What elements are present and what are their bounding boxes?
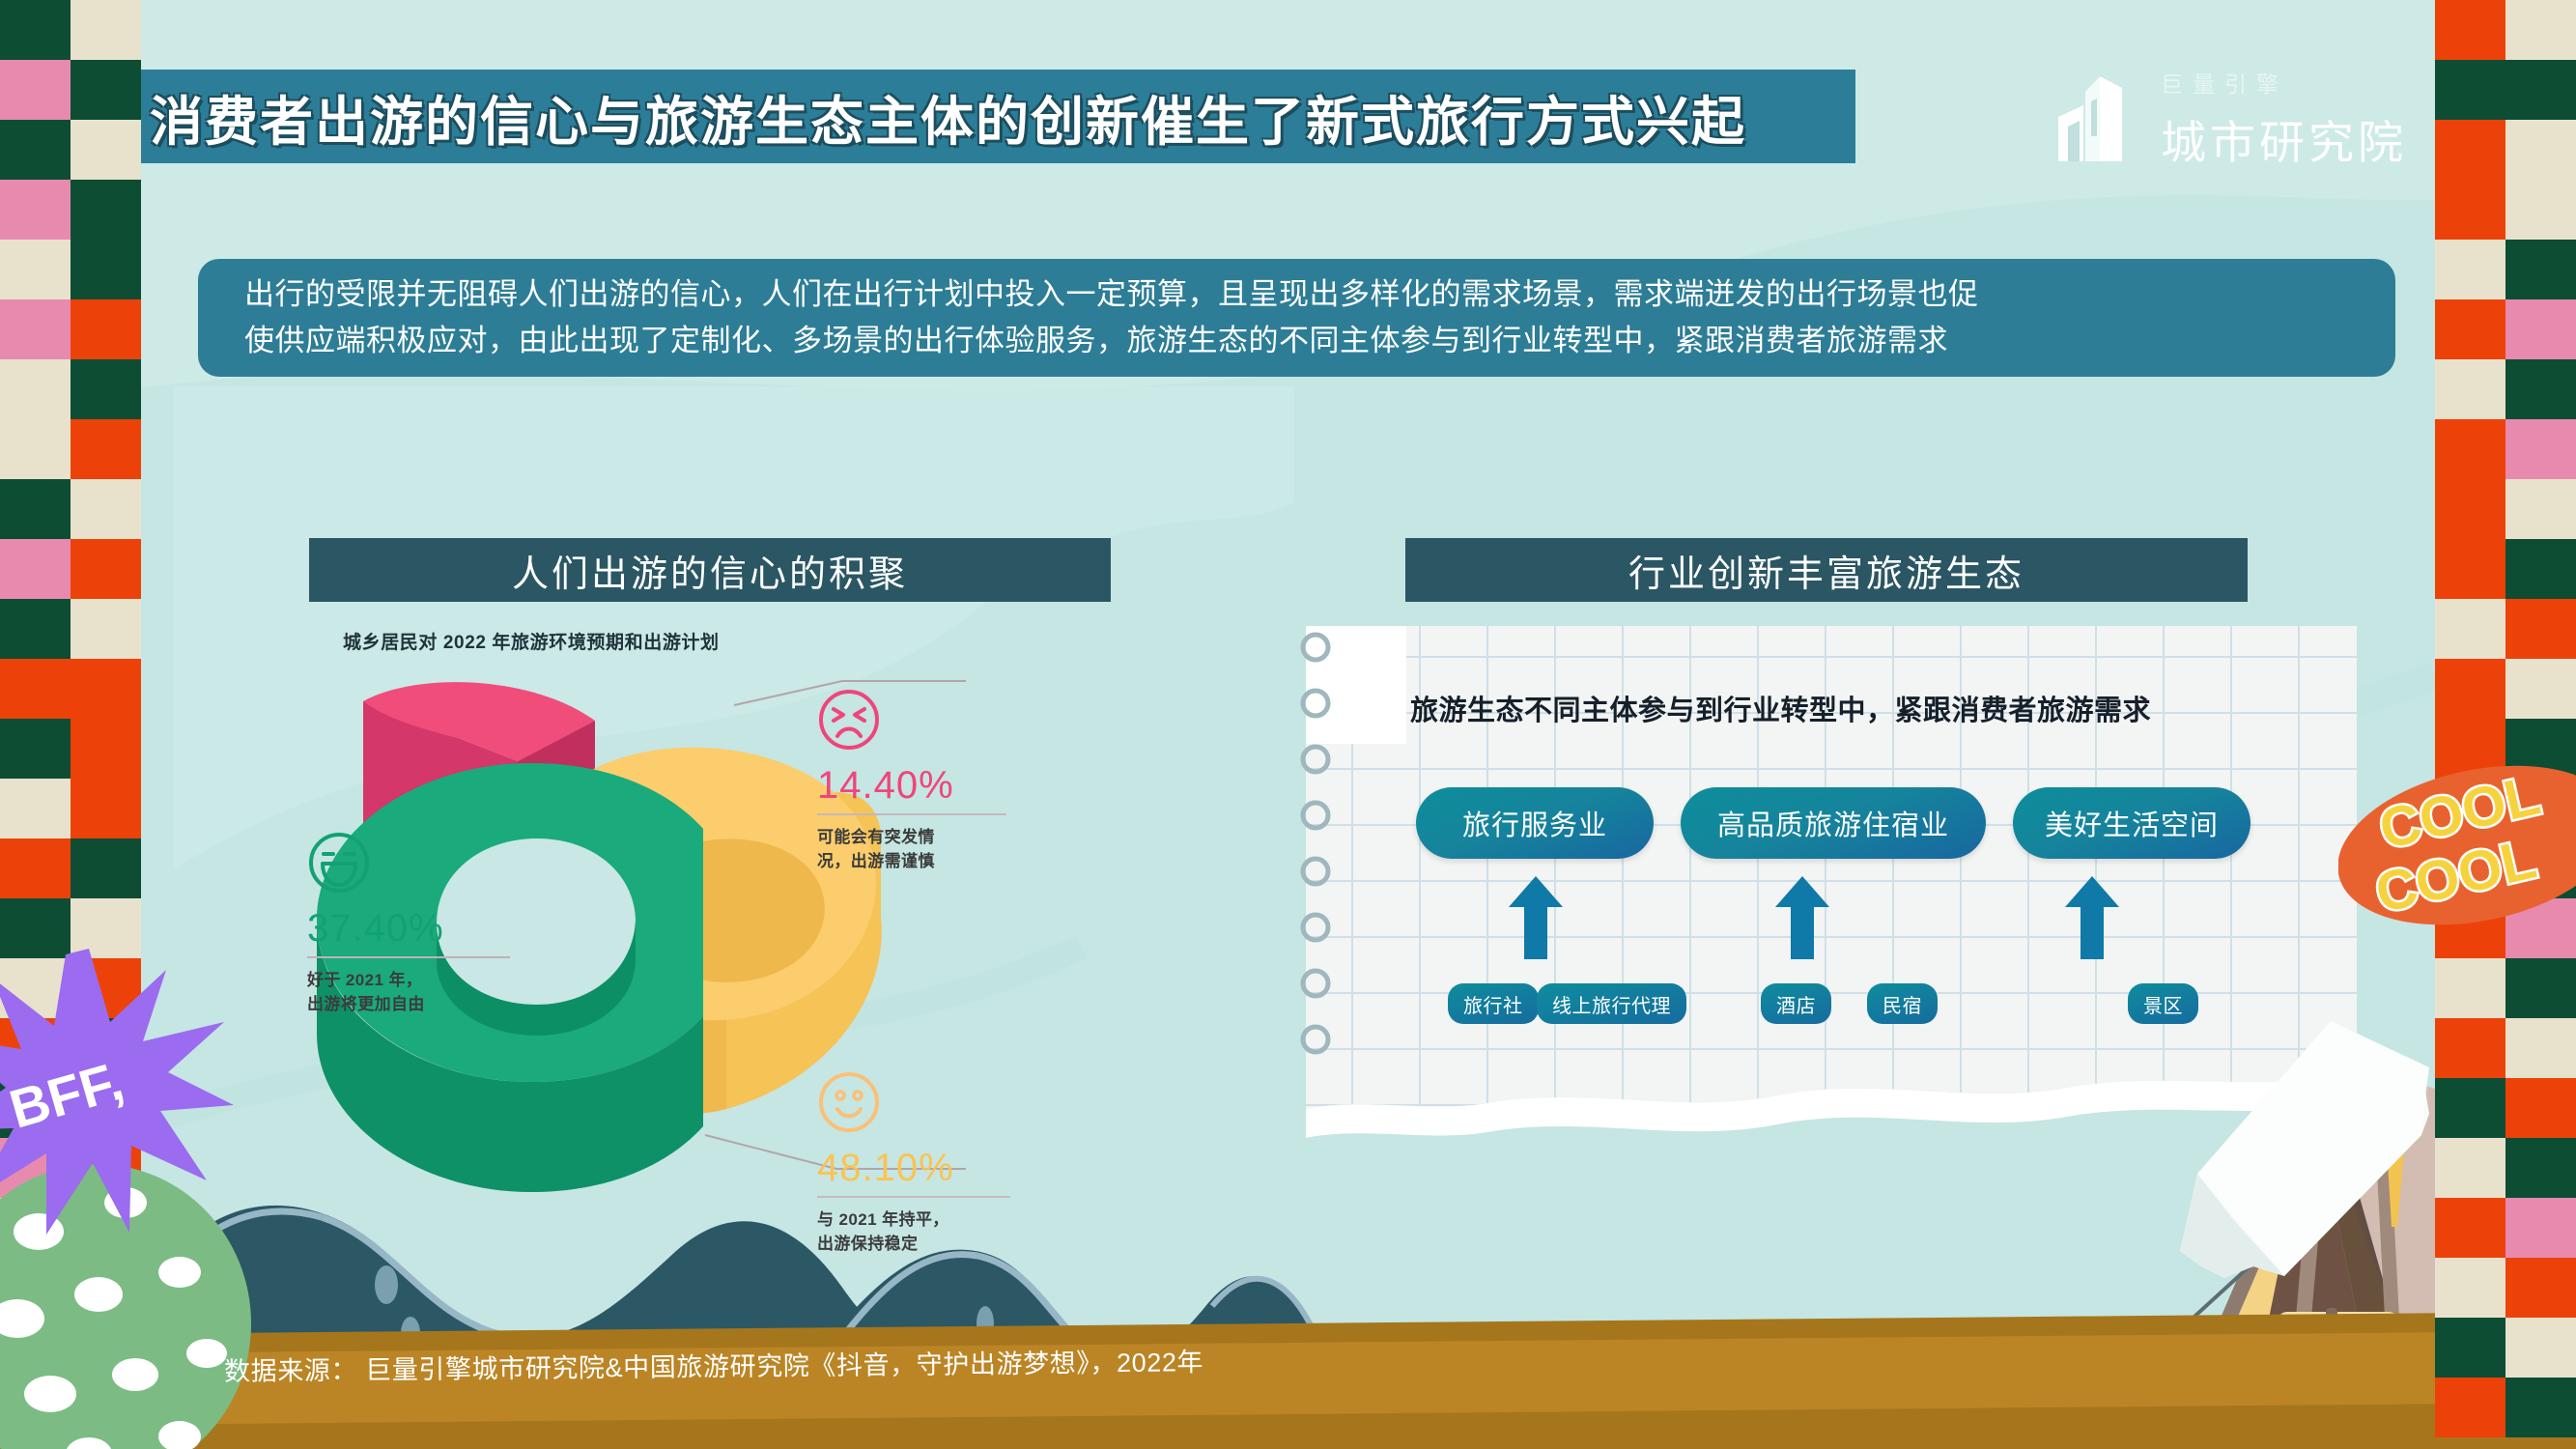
right-section-header: 行业创新丰富旅游生态	[1405, 538, 2248, 602]
infographic-canvas: 数据来源： 巨量引擎城市研究院&中国旅游研究院《抖音，守护出游梦想》，2022年	[0, 0, 2576, 1449]
tag-travel-agency-label: 旅行社	[1463, 990, 1523, 1018]
smile-face-icon	[817, 1070, 881, 1134]
tag-ota-label: 线上旅行代理	[1552, 990, 1671, 1018]
page-title: 消费者出游的信心与旅游生态主体的创新催生了新式旅行方式兴起	[150, 78, 1746, 156]
logo-top-text: 巨量引擎	[2161, 66, 2407, 99]
right-mosaic-border	[2435, 0, 2576, 1449]
frown-face-icon	[817, 688, 881, 752]
callout-amber-caption-1: 与 2021 年持平，	[817, 1207, 1010, 1232]
callout-pink-rule	[817, 813, 1006, 815]
tag-hotel[interactable]: 酒店	[1761, 983, 1831, 1024]
callout-green-rule	[307, 956, 510, 958]
callout-pink-caption-1: 可能会有突发情	[817, 825, 1006, 849]
logo-bottom-text: 城市研究院	[2161, 105, 2407, 172]
callout-green-caption-2: 出游将更加自由	[307, 992, 510, 1016]
tag-ota[interactable]: 线上旅行代理	[1537, 983, 1686, 1024]
callout-amber: 48.10% 与 2021 年持平， 出游保持稳定	[817, 1070, 1010, 1256]
building-logo-icon	[2056, 72, 2139, 165]
callout-amber-rule	[817, 1196, 1010, 1198]
pill-quality-accommodation-label: 高品质旅游住宿业	[1717, 803, 1949, 843]
pill-life-space-label: 美好生活空间	[2045, 803, 2219, 843]
cool-sticker: COOL COOL	[2338, 734, 2576, 956]
paper-note-text: 旅游生态不同主体参与到行业转型中，紧跟消费者旅游需求	[1410, 688, 2318, 728]
chart-subtitle: 城乡居民对 2022 年旅游环境预期和出游计划	[343, 628, 720, 654]
callout-pink-caption-2: 况，出游需谨慎	[817, 849, 1006, 873]
tag-hotel-label: 酒店	[1776, 990, 1816, 1018]
pill-travel-services-label: 旅行服务业	[1462, 803, 1607, 843]
pill-quality-accommodation[interactable]: 高品质旅游住宿业	[1681, 787, 1986, 859]
description-card: 出行的受限并无阻碍人们出游的信心，人们在出行计划中投入一定预算，且呈现出多样化的…	[198, 259, 2395, 377]
callout-green-value: 37.40%	[307, 907, 510, 951]
pill-life-space[interactable]: 美好生活空间	[2013, 787, 2250, 859]
arrow-up-icon-2	[1775, 876, 1829, 959]
tag-travel-agency[interactable]: 旅行社	[1448, 983, 1539, 1024]
ecosystem-pill-row: 旅行服务业 高品质旅游住宿业 美好生活空间	[1416, 787, 2250, 859]
bff-sticker: BFF,	[0, 947, 234, 1236]
description-line-2: 使供应端积极应对，由此出现了定制化、多场景的出行体验服务，旅游生态的不同主体参与…	[244, 318, 2349, 364]
right-section-header-label: 行业创新丰富旅游生态	[1628, 544, 2024, 597]
page-title-bar: 消费者出游的信心与旅游生态主体的创新催生了新式旅行方式兴起	[106, 70, 1855, 163]
description-line-1: 出行的受限并无阻碍人们出游的信心，人们在出行计划中投入一定预算，且呈现出多样化的…	[244, 271, 2349, 318]
upward-arrows	[1416, 874, 2285, 961]
left-section-header: 人们出游的信心的积聚	[309, 538, 1111, 602]
callout-amber-caption-2: 出游保持稳定	[817, 1232, 1010, 1256]
callout-pink-value: 14.40%	[817, 764, 1006, 808]
grin-face-icon	[307, 831, 371, 895]
pill-travel-services[interactable]: 旅行服务业	[1416, 787, 1654, 859]
callout-amber-value: 48.10%	[817, 1147, 1010, 1190]
tag-homestay-label: 民宿	[1882, 990, 1922, 1018]
arrow-up-icon-1	[1509, 876, 1563, 959]
ecosystem-tag-row: 旅行社 线上旅行代理 酒店 民宿 景区	[1405, 983, 2304, 1030]
tag-scenic-area[interactable]: 景区	[2128, 983, 2198, 1024]
tag-homestay[interactable]: 民宿	[1867, 983, 1938, 1024]
callout-green-caption-1: 好于 2021 年，	[307, 968, 510, 992]
arrow-up-icon-3	[2065, 876, 2119, 959]
left-section-header-label: 人们出游的信心的积聚	[512, 544, 908, 597]
callout-pink: 14.40% 可能会有突发情 况，出游需谨慎	[817, 688, 1006, 873]
brand-logo: 巨量引擎 城市研究院	[2056, 66, 2407, 172]
tag-scenic-area-label: 景区	[2143, 990, 2183, 1018]
callout-green: 37.40% 好于 2021 年， 出游将更加自由	[307, 831, 510, 1016]
